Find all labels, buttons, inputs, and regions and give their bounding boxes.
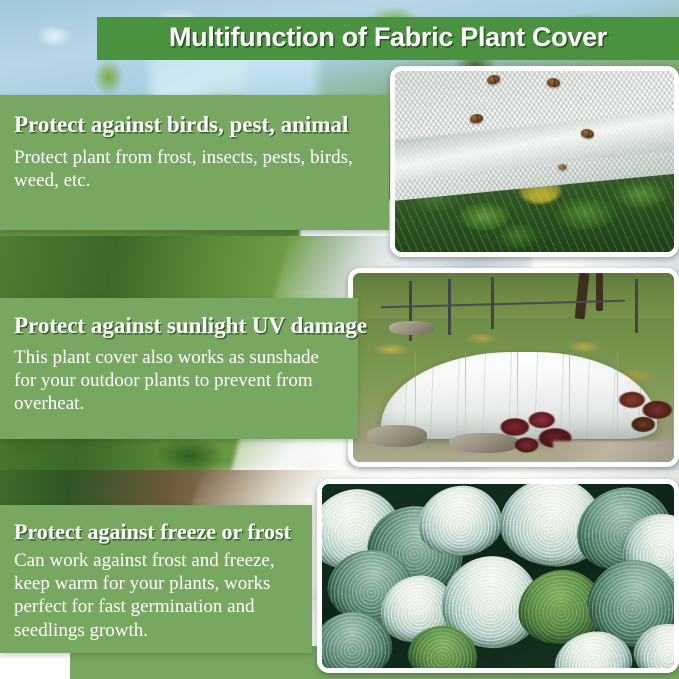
photo-3-scene [322,484,674,668]
photo-2-scene [353,273,674,462]
infographic-canvas: Multifunction of Fabric Plant Cover [0,0,679,679]
page-title-bar: Multifunction of Fabric Plant Cover [97,17,679,60]
garden-stone [389,321,435,335]
beetle-icon [547,77,561,87]
photo-1-scene [395,71,674,252]
feature-photo-freeze-or-frost [317,479,679,673]
autumn-foliage [611,383,679,439]
feature-title: Protect against birds, pest, animal [14,113,375,137]
feature-title: Protect against sunlight UV damage [14,314,344,338]
garden-path [553,441,679,467]
feature-panel-birds-pest-animal: Protect against birds, pest, animal Prot… [0,95,389,230]
fence-post [448,279,451,335]
feature-photo-sunlight-uv-damage [348,268,679,467]
feature-body: Can work against frost and freeze, keep … [14,549,298,642]
tunnel-hoop [465,352,466,439]
feature-panel-sunlight-uv-damage: Protect against sunlight UV damage This … [0,298,358,439]
page-title: Multifunction of Fabric Plant Cover [169,22,607,53]
beetle-icon [558,164,567,170]
fence-post [491,277,494,329]
garden-stone [367,425,427,447]
feature-photo-birds-pest-animal [390,66,679,257]
tree-trunk [596,273,603,311]
feature-body: This plant cover also works as sunshade … [14,346,344,416]
feature-title: Protect against freeze or frost [14,520,298,543]
feature-body: Protect plant from frost, insects, pests… [14,146,375,192]
feature-panel-freeze-or-frost: Protect against freeze or frost Can work… [0,505,312,653]
fence-post [635,279,638,333]
